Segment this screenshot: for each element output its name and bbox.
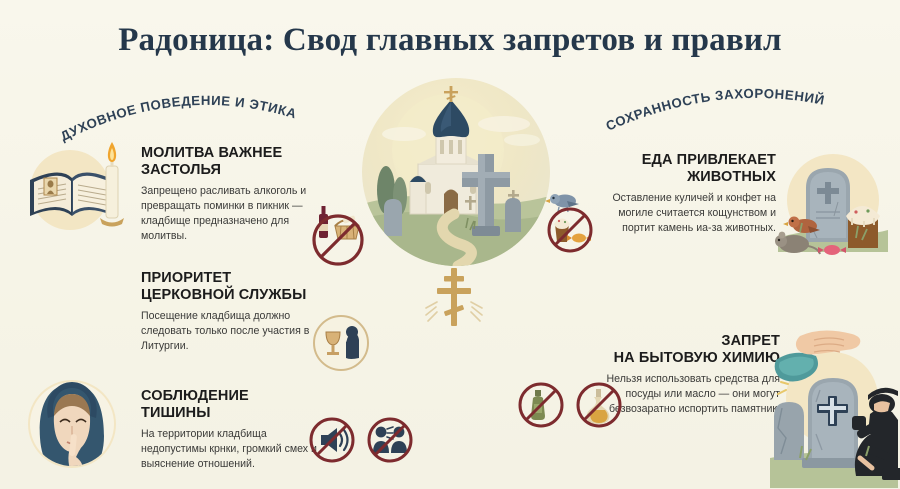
block-title: ЕДА ПРИВЛЕКАЕТ ЖИВОТНЫХ [594,152,776,186]
block-body: Запрещено расливать алкоголь и превращат… [141,184,316,244]
open-book-with-candle-icon [14,132,134,242]
no-arguing-icon [365,415,415,465]
block-body: Оставление куличей и конфет на могиле сч… [594,191,776,236]
church-cemetery-scene-icon [362,78,550,266]
block-title-line1: МОЛИТВА ВАЖНЕЕ [141,145,282,161]
prohibition-row-chemicals [516,380,624,430]
center-illustration [362,78,550,266]
block-prayer-over-feast: МОЛИТВА ВАЖНЕЕ ЗАСТОЛЬЯ Запрещено раслив… [141,145,316,244]
block-title-line1: СОБЛЮДЕНИЕ ТИШИНЫ [141,388,249,421]
block-keep-silence: СОБЛЮДЕНИЕ ТИШИНЫ На территории кладбища… [141,388,321,472]
block-title: ЗАПРЕТ НА БЫТОВУЮ ХИМИЮ [568,333,780,367]
block-title: МОЛИТВА ВАЖНЕЕ ЗАСТОЛЬЯ [141,145,316,179]
right-section-header: СОХРАННОСТЬ ЗАХОРОНЕНИЙ [600,90,860,150]
no-loud-sound-icon [307,415,357,465]
block-title: ПРИОРИТЕТ ЦЕРКОВНОЙ СЛУЖБЫ [141,270,321,304]
svg-text:СОХРАННОСТЬ ЗАХОРОНЕНИЙ: СОХРАННОСТЬ ЗАХОРОНЕНИЙ [604,86,826,134]
block-title-line1: ЕДА ПРИВЛЕКАЕТ [642,152,776,168]
hand-wiping-gravestone-stonemason-icon [770,330,898,488]
prohibition-row-alcohol-picnic [305,200,371,248]
block-title-line2: НА БЫТОВУЮ ХИМИЮ [614,350,780,366]
prohibition-row-food [541,188,603,250]
chalice-and-praying-person-icon [310,312,372,374]
no-kulich-and-candy-icon [541,188,603,250]
block-title-line2: ЖИВОТНЫХ [687,169,776,185]
no-dish-detergent-icon [516,380,566,430]
block-title: СОБЛЮДЕНИЕ ТИШИНЫ [141,388,321,422]
prohibition-row-silence [307,415,415,465]
block-body: Посещение кладбища должно следовать толь… [141,309,321,354]
page-title: Радоница: Свод главных запретов и правил [0,22,900,59]
block-church-service-priority: ПРИОРИТЕТ ЦЕРКОВНОЙ СЛУЖБЫ Посещение кла… [141,270,321,354]
block-title-line1: ПРИОРИТЕТ [141,270,231,286]
woman-shushing-icon [20,372,124,476]
infographic-canvas: Радоница: Свод главных запретов и правил… [0,0,900,489]
block-body: На территории кладбища недопустимы крнки… [141,427,321,472]
no-oil-bottle-icon [574,380,624,430]
block-title-line2: ЦЕРКОВНОЙ СЛУЖБЫ [141,287,306,303]
block-title-line2: ЗАСТОЛЬЯ [141,162,221,178]
orthodox-cross-icon [424,262,484,328]
right-section-header-text: СОХРАННОСТЬ ЗАХОРОНЕНИЙ [604,86,826,134]
no-alcohol-and-picnic-icon [305,200,371,248]
gravestone-with-kulich-bird-mouse-icon [772,142,894,258]
block-food-attracts-animals: ЕДА ПРИВЛЕКАЕТ ЖИВОТНЫХ Оставление кулич… [594,152,776,236]
